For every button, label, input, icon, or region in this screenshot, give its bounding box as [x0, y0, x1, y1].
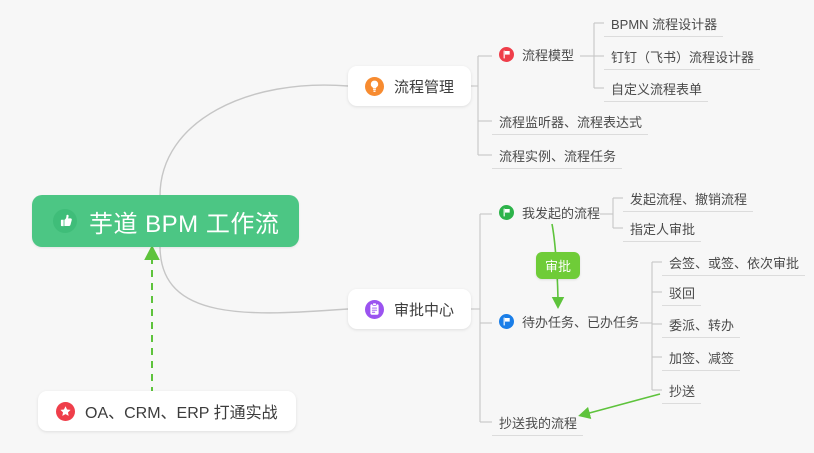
node-todo-done-tasks[interactable]: 待办任务、已办任务	[492, 308, 645, 335]
node-label: 委派、转办	[669, 315, 734, 334]
node-delegate-transfer[interactable]: 委派、转办	[662, 311, 740, 338]
node-custom-process-form[interactable]: 自定义流程表单	[604, 75, 708, 102]
node-cc-to-me-process[interactable]: 抄送我的流程	[492, 409, 583, 436]
node-assignee-approval[interactable]: 指定人审批	[623, 215, 701, 242]
flag-icon	[499, 314, 514, 329]
node-label: 待办任务、已办任务	[522, 312, 639, 331]
branch-label: 流程管理	[394, 76, 454, 97]
star-icon	[56, 402, 75, 421]
mindmap-canvas: 芋道 BPM 工作流 流程管理 流程模型 BPMN 流程设计器 钉钉（飞书	[0, 0, 814, 453]
node-label: 指定人审批	[630, 219, 695, 238]
flag-icon	[499, 205, 514, 220]
node-label: 发起流程、撤销流程	[630, 189, 747, 208]
branch-process-management[interactable]: 流程管理	[348, 66, 471, 106]
root-label: 芋道 BPM 工作流	[89, 204, 279, 239]
node-process-instance-task[interactable]: 流程实例、流程任务	[492, 142, 622, 169]
card-label: OA、CRM、ERP 打通实战	[85, 399, 278, 423]
node-label: 驳回	[669, 283, 695, 302]
node-process-listener-expression[interactable]: 流程监听器、流程表达式	[492, 108, 648, 135]
approval-tag[interactable]: 审批	[536, 252, 580, 279]
flag-icon	[499, 47, 514, 62]
thumbs-up-icon	[52, 208, 78, 234]
node-reject[interactable]: 驳回	[662, 279, 701, 306]
node-bpmn-designer[interactable]: BPMN 流程设计器	[604, 10, 723, 37]
node-my-initiated-process[interactable]: 我发起的流程	[492, 199, 606, 226]
node-label: 抄送	[669, 381, 695, 400]
node-label: 我发起的流程	[522, 203, 600, 222]
node-label: 流程实例、流程任务	[499, 146, 616, 165]
node-label: 会签、或签、依次审批	[669, 253, 799, 272]
node-dingtalk-feishu-designer[interactable]: 钉钉（飞书）流程设计器	[604, 43, 760, 70]
branch-approval-center[interactable]: 审批中心	[348, 289, 471, 329]
clipboard-icon	[365, 300, 384, 319]
lightbulb-icon	[365, 77, 384, 96]
node-label: BPMN 流程设计器	[611, 14, 717, 33]
node-countersign-orsign-sequential[interactable]: 会签、或签、依次审批	[662, 249, 805, 276]
node-label: 流程监听器、流程表达式	[499, 112, 642, 131]
node-label: 加签、减签	[669, 348, 734, 367]
root-node[interactable]: 芋道 BPM 工作流	[32, 195, 299, 247]
node-carbon-copy[interactable]: 抄送	[662, 377, 701, 404]
node-label: 抄送我的流程	[499, 413, 577, 432]
node-start-cancel-process[interactable]: 发起流程、撤销流程	[623, 185, 753, 212]
node-process-model[interactable]: 流程模型	[492, 41, 580, 68]
branch-label: 审批中心	[394, 299, 454, 320]
node-label: 钉钉（飞书）流程设计器	[611, 47, 754, 66]
approval-tag-label: 审批	[545, 256, 571, 275]
node-label: 流程模型	[522, 45, 574, 64]
node-add-remove-sign[interactable]: 加签、减签	[662, 344, 740, 371]
node-label: 自定义流程表单	[611, 79, 702, 98]
card-integration-practice[interactable]: OA、CRM、ERP 打通实战	[38, 391, 296, 431]
